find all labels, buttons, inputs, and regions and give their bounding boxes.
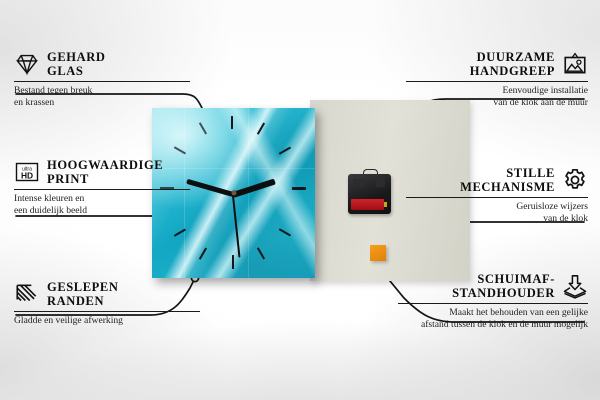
feature-title: SCHUIMAF- STANDHOUDER: [452, 272, 555, 300]
feature-header: GEHARD GLAS: [14, 50, 190, 78]
divider: [14, 311, 200, 312]
divider: [14, 81, 190, 82]
feature-header: DUURZAME HANDGREEP: [406, 50, 588, 78]
divider: [14, 189, 190, 190]
feature-schuimafstandhouder: SCHUIMAF- STANDHOUDER Maakt het behouden…: [398, 272, 588, 330]
feature-title: DUURZAME HANDGREEP: [470, 50, 555, 78]
divider: [398, 303, 588, 304]
mechanism-slot-right: [376, 179, 385, 187]
ultra-hd-icon: ultra HD: [14, 159, 40, 185]
feature-gehard-glas: GEHARD GLAS Bestand tegen breuk en krass…: [14, 50, 190, 108]
feature-header: GESLEPEN RANDEN: [14, 280, 200, 308]
feature-title: STILLE MECHANISME: [460, 166, 555, 194]
feature-subtitle: Gladde en veilige afwerking: [14, 315, 200, 326]
feature-title: GESLEPEN RANDEN: [47, 280, 119, 308]
mechanism-slot-left: [353, 179, 364, 187]
feature-subtitle: Bestand tegen breuk en krassen: [14, 85, 190, 108]
diamond-icon: [14, 51, 40, 77]
clock-tick: [231, 116, 233, 129]
clock-tick: [232, 255, 234, 269]
feature-header: ultra HD HOOGWAARDIGE PRINT: [14, 158, 190, 186]
feature-subtitle: Eenvoudige installatie van de klok aan d…: [406, 85, 588, 108]
diagonal-lines-icon: [14, 281, 40, 307]
picture-frame-icon: [562, 51, 588, 77]
mechanism-battery: [351, 199, 384, 210]
feature-duurzame-handgreep: DUURZAME HANDGREEP Eenvoudige installati…: [406, 50, 588, 108]
feature-title: GEHARD GLAS: [47, 50, 105, 78]
feature-header: SCHUIMAF- STANDHOUDER: [398, 272, 588, 300]
press-down-icon: [562, 273, 588, 299]
feature-stille-mechanisme: STILLE MECHANISME Geruisloze wijzers van…: [406, 166, 588, 224]
divider: [406, 81, 588, 82]
clock-tick: [292, 187, 306, 190]
feature-geslepen-randen: GESLEPEN RANDEN Gladde en veilige afwerk…: [14, 280, 200, 327]
feature-subtitle: Maakt het behouden van een gelijke afsta…: [398, 307, 588, 330]
feature-hoogwaardige-print: ultra HD HOOGWAARDIGE PRINT Intense kleu…: [14, 158, 190, 216]
infographic-canvas: GEHARD GLAS Bestand tegen breuk en krass…: [0, 0, 600, 400]
feature-header: STILLE MECHANISME: [406, 166, 588, 194]
foam-spacer: [370, 245, 386, 261]
divider: [406, 197, 588, 198]
feature-subtitle: Intense kleuren en een duidelijk beeld: [14, 193, 190, 216]
gear-icon: [562, 167, 588, 193]
svg-text:HD: HD: [21, 170, 33, 180]
clock-mechanism: [348, 174, 391, 214]
clock-center-pin: [231, 191, 236, 196]
feature-title: HOOGWAARDIGE PRINT: [47, 158, 163, 186]
feature-subtitle: Geruisloze wijzers van de klok: [406, 201, 588, 224]
